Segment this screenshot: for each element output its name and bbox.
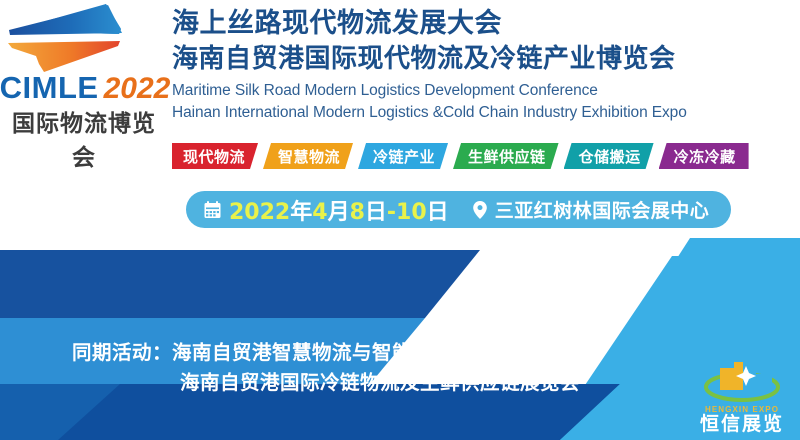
main-title-line2: 海南自贸港国际现代物流及冷链产业博览会	[172, 42, 792, 77]
english-subtitle-line2: Hainan International Modern Logistics &C…	[172, 102, 792, 124]
header-section: CIMLE 2022 国际物流博览会 海上丝路现代物流发展大会 海南自贸港国际现…	[0, 0, 800, 238]
date-number: -	[387, 200, 396, 225]
category-tag[interactable]: 仓储搬运	[564, 143, 654, 169]
logo-chinese-name: 国际物流博览会	[6, 104, 162, 172]
category-tag[interactable]: 冷链产业	[358, 143, 448, 169]
event-info-bar: 2022年4月8日-10日 三亚红树林国际会展中心	[186, 191, 731, 228]
category-tag[interactable]: 现代物流	[172, 143, 258, 169]
calendar-icon	[204, 201, 221, 219]
date-number: 4	[312, 200, 327, 225]
category-tag[interactable]: 冷冻冷藏	[659, 143, 749, 169]
logo-acronym: CIMLE	[0, 70, 99, 106]
english-subtitle-line1: Maritime Silk Road Modern Logistics Deve…	[172, 80, 792, 102]
main-title-line1: 海上丝路现代物流发展大会	[172, 6, 792, 42]
category-tag-list: 现代物流智慧物流冷链产业生鲜供应链仓储搬运冷冻冷藏	[172, 143, 749, 169]
location-pin-icon	[473, 201, 487, 219]
footer-section: 同期活动：海南自贸港智慧物流与智能仓储发展论坛 海南自贸港国际冷链物流及生鲜供应…	[0, 238, 800, 440]
date-number: 8	[350, 200, 365, 225]
concurrent-events: 同期活动：海南自贸港智慧物流与智能仓储发展论坛 海南自贸港国际冷链物流及生鲜供应…	[0, 338, 640, 398]
logo-wordmark: CIMLE 2022	[10, 70, 160, 104]
event-date: 2022年4月8日-10日	[229, 194, 449, 226]
category-tag[interactable]: 生鲜供应链	[453, 143, 559, 169]
poster-banner: CIMLE 2022 国际物流博览会 海上丝路现代物流发展大会 海南自贸港国际现…	[0, 0, 800, 440]
logo-year: 2022	[104, 72, 171, 106]
cimle-logo: CIMLE 2022 国际物流博览会	[6, 4, 162, 136]
category-tag[interactable]: 智慧物流	[263, 143, 353, 169]
forum-line-1: 同期活动：海南自贸港智慧物流与智能仓储发展论坛	[0, 338, 640, 368]
date-number: 2022	[229, 200, 290, 225]
date-number: 10	[396, 200, 427, 225]
logo-swoosh-graphic	[6, 4, 162, 76]
forum-line-2: 海南自贸港国际冷链物流及生鲜供应链展览会	[0, 368, 640, 398]
date-label: 月	[328, 200, 350, 225]
date-label: 日	[427, 200, 449, 225]
organizer-logo: HENGXIN EXPO 恒信展览	[690, 356, 794, 440]
organizer-chinese-name: 恒信展览	[690, 414, 794, 435]
event-venue: 三亚红树林国际会展中心	[495, 196, 710, 223]
date-label: 日	[365, 200, 387, 225]
title-group: 海上丝路现代物流发展大会 海南自贸港国际现代物流及冷链产业博览会 Maritim…	[172, 6, 792, 124]
date-label: 年	[290, 200, 312, 225]
hengxin-expo-mark	[690, 356, 794, 404]
